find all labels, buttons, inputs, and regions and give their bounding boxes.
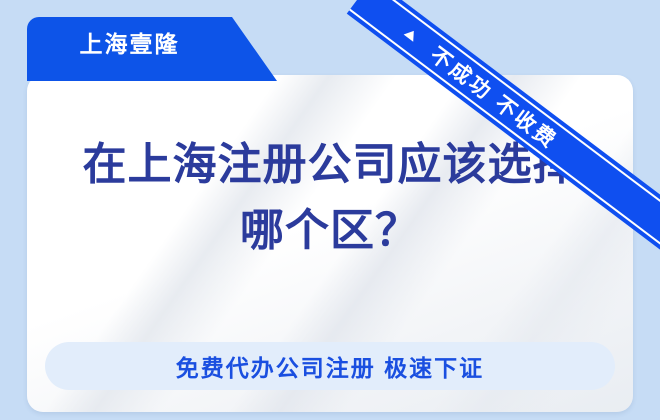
promo-poster: 在上海注册公司应该选择 哪个区？ 免费代办公司注册 极速下证 上海壹隆 不成功 …	[0, 0, 660, 420]
brand-tab-label: 上海壹隆	[27, 29, 232, 59]
brand-tab[interactable]: 上海壹隆	[27, 17, 277, 81]
headline-line-2: 哪个区？	[27, 198, 633, 264]
cta-label: 免费代办公司注册 极速下证	[176, 349, 484, 383]
cta-banner[interactable]: 免费代办公司注册 极速下证	[45, 342, 615, 390]
triangle-up-icon	[404, 27, 419, 41]
